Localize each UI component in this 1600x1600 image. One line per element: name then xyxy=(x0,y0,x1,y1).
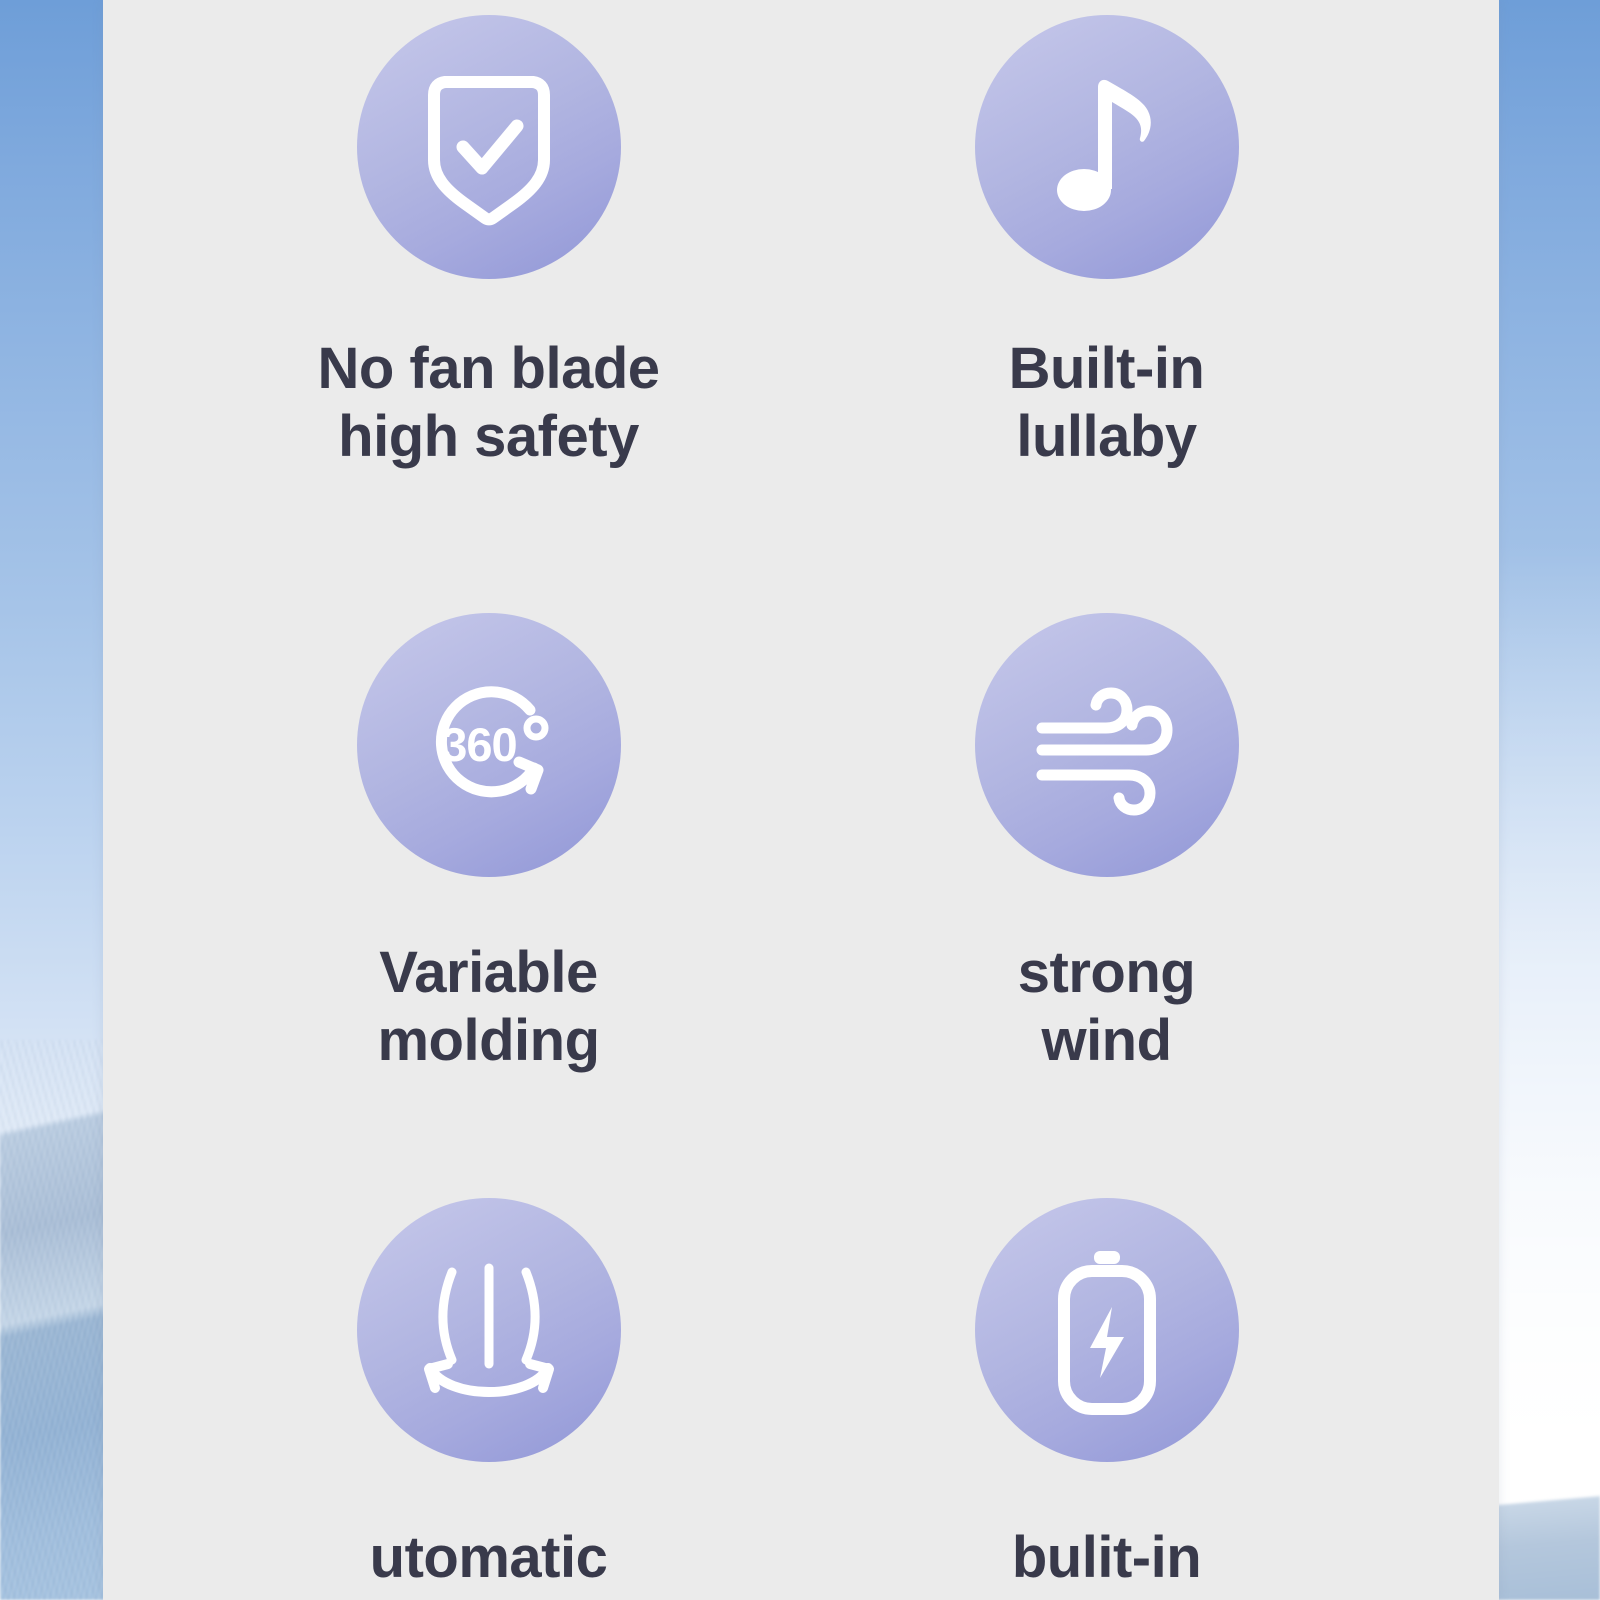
oscillation-icon xyxy=(357,1198,621,1462)
wind-icon xyxy=(975,613,1239,877)
feature-item-strong-wind[interactable]: strongwind xyxy=(801,585,1499,1170)
feature-label: Built-inlullaby xyxy=(1009,335,1205,472)
feature-label: strongwind xyxy=(1018,939,1195,1076)
battery-charging-icon xyxy=(975,1198,1239,1462)
svg-text:360: 360 xyxy=(441,718,516,771)
feature-item-variable-molding[interactable]: 360 Variablemolding xyxy=(103,585,801,1170)
feature-grid-screenshot: No fan bladehigh safety Built-inlullaby xyxy=(0,0,1600,1600)
feature-label: No fan bladehigh safety xyxy=(317,335,659,472)
feature-item-built-in-lullaby[interactable]: Built-inlullaby xyxy=(801,0,1499,585)
feature-label: utomatic xyxy=(370,1524,608,1592)
feature-item-automatic-oscillation[interactable]: utomatic xyxy=(103,1170,801,1600)
feature-item-built-in-battery[interactable]: bulit-in xyxy=(801,1170,1499,1600)
feature-grid: No fan bladehigh safety Built-inlullaby xyxy=(103,0,1499,1600)
shield-check-icon xyxy=(357,15,621,279)
feature-label: Variablemolding xyxy=(377,939,599,1076)
rotation-360-icon: 360 xyxy=(357,613,621,877)
feature-label: bulit-in xyxy=(1012,1524,1201,1592)
feature-panel: No fan bladehigh safety Built-inlullaby xyxy=(103,0,1499,1600)
feature-item-no-fan-blade[interactable]: No fan bladehigh safety xyxy=(103,0,801,585)
music-note-icon xyxy=(975,15,1239,279)
